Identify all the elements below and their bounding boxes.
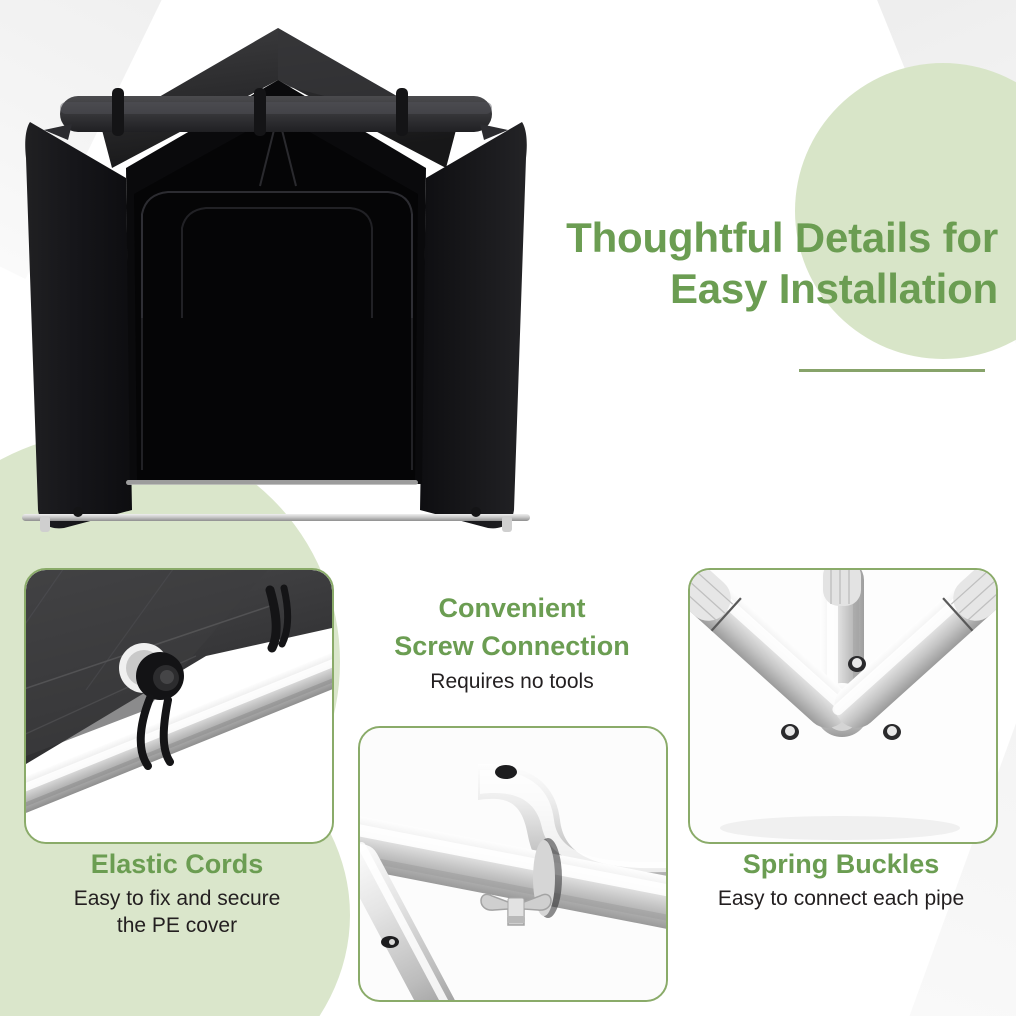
- headline-line-1: Thoughtful Details for: [566, 214, 998, 261]
- spring-buckles-title: Spring Buckles: [682, 848, 1000, 880]
- headline-line-2: Easy Installation: [478, 263, 998, 314]
- elastic-cords-subtitle-line-1: Easy to fix and secure: [24, 886, 330, 913]
- screw-connection-title-line-2: Screw Connection: [356, 630, 668, 662]
- spring-buckles-photo-frame: [688, 568, 998, 844]
- spring-buckles-subtitle: Easy to connect each pipe: [682, 886, 1000, 913]
- screw-connection-subtitle: Requires no tools: [356, 669, 668, 696]
- elastic-cords-photo-frame: [24, 568, 334, 844]
- screw-connection-caption: Convenient Screw Connection Requires no …: [356, 592, 668, 696]
- spring-buckles-caption: Spring Buckles Easy to connect each pipe: [682, 848, 1000, 913]
- screw-connection-title-line-1: Convenient: [356, 592, 668, 624]
- infographic-canvas: Thoughtful Details for Easy Installation: [0, 0, 1016, 1016]
- screw-connection-photo-frame: [358, 726, 668, 1002]
- page-title: Thoughtful Details for Easy Installation: [478, 212, 998, 314]
- elastic-cords-caption: Elastic Cords Easy to fix and secure the…: [24, 848, 330, 940]
- headline-divider-rule: [799, 369, 985, 372]
- elastic-cords-subtitle-line-2: the PE cover: [24, 913, 330, 940]
- green-circle-headline: [795, 63, 1016, 359]
- hero-product-image: [16, 18, 536, 542]
- elastic-cords-title: Elastic Cords: [24, 848, 330, 880]
